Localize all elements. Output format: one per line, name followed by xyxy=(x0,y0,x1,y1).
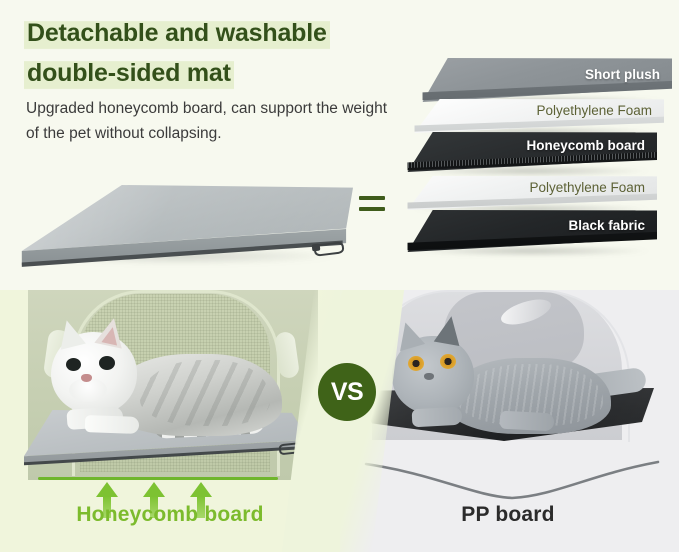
arrow-head xyxy=(96,482,118,497)
support-baseline-flat xyxy=(38,477,278,480)
layer-black-fabric: Black fabric xyxy=(405,210,657,252)
arrow-head xyxy=(143,482,165,497)
layer-label: Polyethylene Foam xyxy=(529,179,645,197)
layer-short-plush: Short plush xyxy=(420,58,672,102)
cat-paw-front-left xyxy=(412,407,463,428)
cat-ear-right xyxy=(434,314,464,346)
layer-label: Short plush xyxy=(585,66,660,84)
cat-gray xyxy=(388,316,638,451)
mat-body xyxy=(8,185,353,273)
layer-stack-diagram: Short plush Polyethylene Foam Honeycomb … xyxy=(398,58,674,273)
equals-bar-top xyxy=(359,196,385,200)
cat-eye-left xyxy=(66,358,81,371)
cat-eye-left xyxy=(408,356,424,371)
arrow-head xyxy=(190,482,212,497)
zipper-pull-icon xyxy=(312,240,346,255)
page-title-line-2: double-sided mat xyxy=(24,56,234,90)
cat-fur-stripes xyxy=(140,360,270,426)
equals-sign-icon xyxy=(359,196,385,218)
layer-polyethylene-foam-top: Polyethylene Foam xyxy=(412,99,664,133)
cat-eye-right xyxy=(99,356,115,370)
layer-polyethylene-foam-bottom: Polyethylene Foam xyxy=(405,176,657,210)
subtitle-text: Upgraded honeycomb board, can support th… xyxy=(26,96,398,146)
title-block: Detachable and washable double-sided mat xyxy=(24,16,404,90)
vs-badge: VS xyxy=(318,363,376,421)
equals-bar-bottom xyxy=(359,207,385,211)
page-title-line-1: Detachable and washable xyxy=(24,16,330,50)
caption-pp-board: PP board xyxy=(348,503,668,527)
top-section: Detachable and washable double-sided mat… xyxy=(0,0,679,290)
vs-badge-label: VS xyxy=(331,380,363,405)
layer-label: Black fabric xyxy=(568,217,645,235)
product-infographic: Detachable and washable double-sided mat… xyxy=(0,0,679,552)
layer-label: Polyethylene Foam xyxy=(536,102,652,120)
sag-curve-line xyxy=(364,458,660,502)
cat-paw-front-right xyxy=(500,411,555,432)
cat-nose xyxy=(81,374,92,382)
layer-honeycomb-board: Honeycomb board xyxy=(405,132,657,172)
cat-paw-front-right xyxy=(85,415,140,434)
layer-label: Honeycomb board xyxy=(526,137,645,155)
cat-eye-right xyxy=(440,354,456,369)
cat-nose xyxy=(424,373,434,380)
gray-mat-figure xyxy=(8,185,353,280)
cat-white-tabby xyxy=(45,316,290,441)
